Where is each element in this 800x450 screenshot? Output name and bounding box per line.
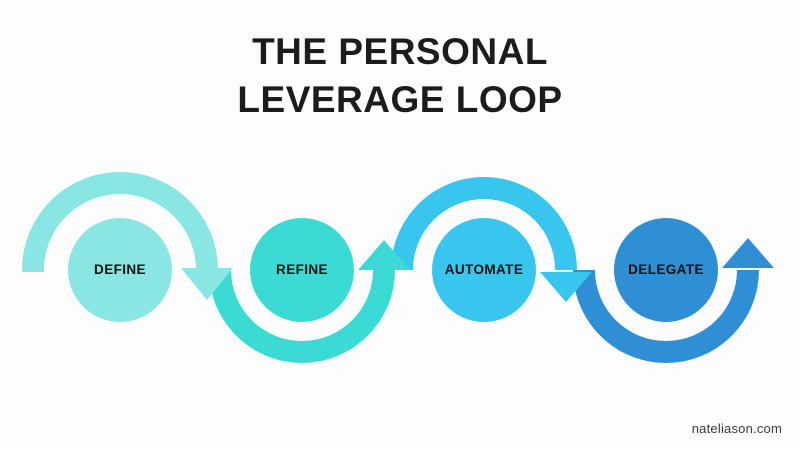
arrowhead-delegate-up bbox=[722, 238, 774, 268]
leverage-loop-diagram: DEFINE REFINE AUTOMATE DELEGATE bbox=[0, 0, 800, 450]
footer-credit: nateliason.com bbox=[692, 421, 782, 436]
node-circle-define[interactable] bbox=[68, 218, 172, 322]
node-circle-refine[interactable] bbox=[250, 218, 354, 322]
infographic-canvas: THE PERSONAL LEVERAGE LOOP bbox=[0, 0, 800, 450]
node-circle-automate[interactable] bbox=[432, 218, 536, 322]
wave-graphic bbox=[0, 0, 800, 450]
node-circle-delegate[interactable] bbox=[614, 218, 718, 322]
